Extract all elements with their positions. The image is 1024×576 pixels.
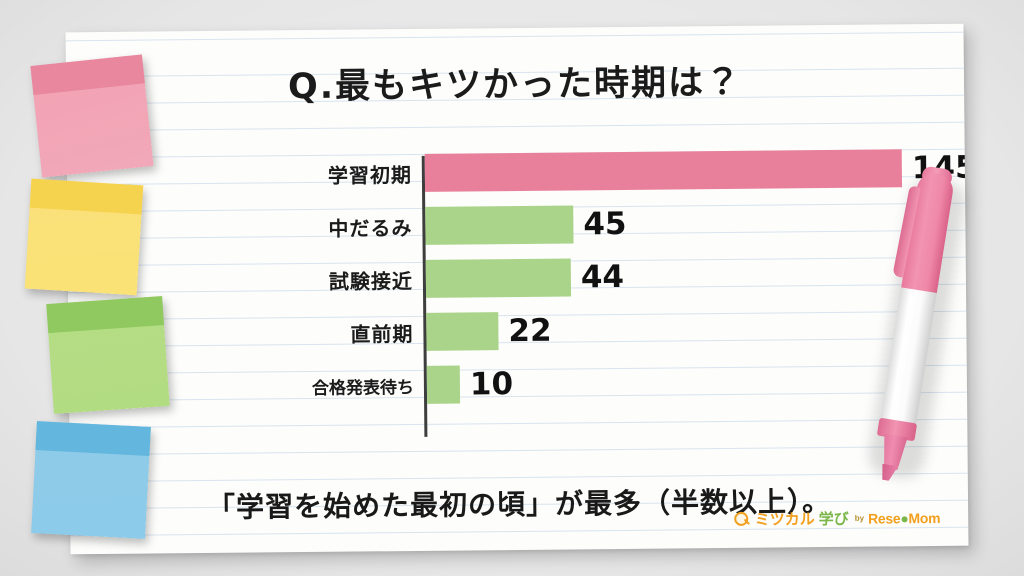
- sticky-note-yellow: [25, 179, 144, 296]
- bar-value: 45: [583, 205, 627, 243]
- sticky-note-green: [46, 296, 169, 414]
- sticky-note-band: [35, 421, 150, 456]
- sticky-note-band: [30, 179, 144, 214]
- bar-rect: [425, 205, 573, 244]
- logo-brand-sub-text: 学び: [819, 508, 849, 529]
- bar-chart: 学習初期 145 中だるみ 45 試験接近 44 直前期 22: [177, 149, 920, 441]
- bar-label: 直前期: [183, 317, 413, 348]
- chart-row: 試験接近 44: [178, 255, 918, 300]
- chart-row: 直前期 22: [178, 308, 918, 353]
- bar-value: 44: [581, 258, 625, 296]
- bar-rect: [426, 312, 498, 351]
- bar-rect: [425, 149, 902, 192]
- sticky-note-band: [30, 54, 144, 95]
- bar-label: 学習初期: [182, 159, 412, 190]
- chart-row: 学習初期 145: [177, 149, 917, 194]
- bar-label: 合格発表待ち: [184, 372, 414, 399]
- chart-row: 合格発表待ち 10: [179, 361, 919, 406]
- page-title: Q.最もキツかった時期は？: [66, 52, 964, 112]
- logo-publisher-part1: Rese: [868, 510, 900, 526]
- bar-rect: [427, 366, 460, 404]
- bar-label: 中だるみ: [182, 212, 412, 243]
- bar-value: 10: [470, 365, 514, 403]
- scene-background: Q.最もキツかった時期は？ 学習初期 145 中だるみ 45 試験接近 44: [0, 0, 1024, 576]
- notebook-paper: Q.最もキツかった時期は？ 学習初期 145 中だるみ 45 試験接近 44: [66, 24, 969, 555]
- bar-rect: [426, 258, 571, 297]
- logo-publisher: Rese●Mom: [868, 509, 940, 526]
- bar-label: 試験接近: [183, 264, 413, 295]
- logo-by-text: by: [855, 514, 864, 523]
- magnifier-icon: [735, 511, 751, 527]
- chart-row: 中だるみ 45: [177, 202, 917, 247]
- brand-logo[interactable]: ミツカル 学び by Rese●Mom: [735, 507, 941, 530]
- sticky-note-band: [46, 296, 164, 333]
- sticky-note-blue: [31, 421, 151, 539]
- logo-brand-text: ミツカル: [755, 508, 815, 530]
- logo-publisher-part2: Mom: [908, 509, 940, 525]
- bar-value: 22: [508, 312, 552, 350]
- sticky-note-pink: [30, 54, 153, 177]
